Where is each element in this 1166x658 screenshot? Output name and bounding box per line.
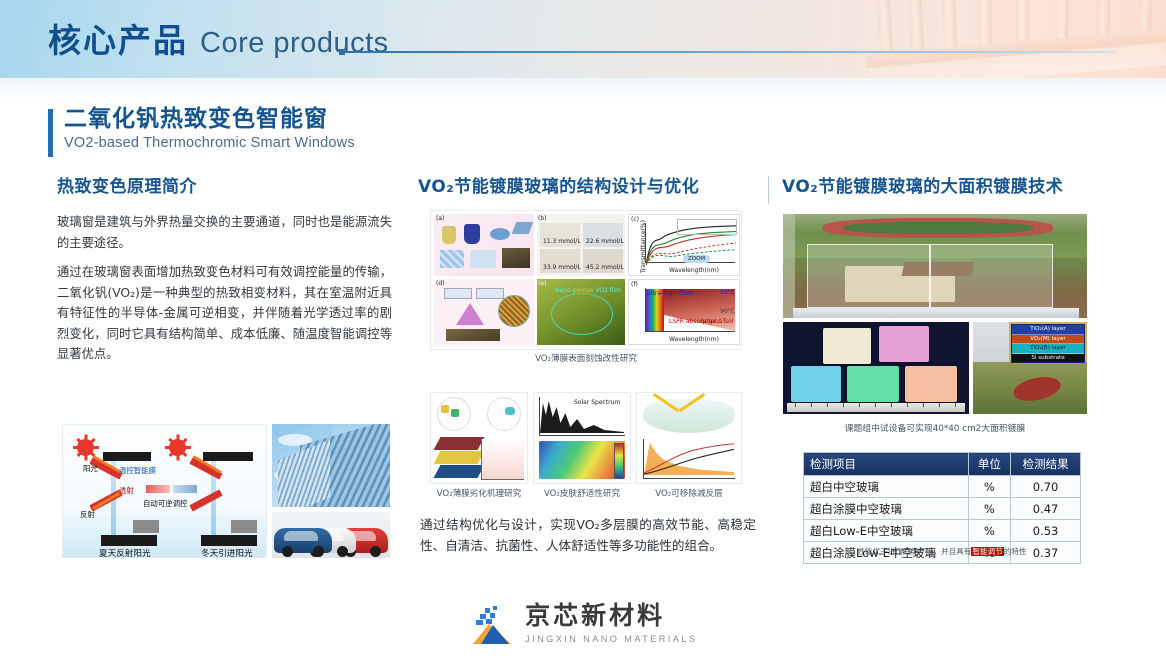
- section-title-block: 二氧化钒热致变色智能窗 VO2-based Thermochromic Smar…: [48, 106, 355, 153]
- company-logo: 京芯新材料 JINGXIN NANO MATERIALS: [469, 602, 698, 644]
- table-row: 超白涂膜中空玻璃 % 0.47: [804, 498, 1081, 520]
- sample-cream: [823, 328, 871, 364]
- left-column-heading: 热致变色原理简介: [57, 176, 392, 198]
- caption-summer: 夏天反射阳光: [99, 547, 151, 558]
- figure-caption-skin: VO₂皮肤舒适性研究: [533, 487, 631, 499]
- right-photo-caption: 课题组中试设备可实现40*40 cm2大面积镀膜: [783, 421, 1087, 434]
- photo-cars: [272, 512, 390, 558]
- classical-columns-watermark: [866, 0, 1166, 78]
- panel-label-b: (b): [538, 215, 547, 222]
- label-transmit: 透射: [119, 485, 134, 496]
- sample-peach: [905, 366, 957, 402]
- table-cell-unit: %: [968, 520, 1011, 542]
- label-sunlight-summer: 阳光: [83, 463, 98, 474]
- table-cell-unit: %: [968, 476, 1011, 498]
- table-row: 超白中空玻璃 % 0.70: [804, 476, 1081, 498]
- logo-pixel-5: [476, 620, 483, 625]
- layer-stack-legend: TiO₂(A) layer VO₂(M) layer TiO₂(B) layer…: [1011, 324, 1085, 363]
- column-middle: VO₂节能镀膜玻璃的结构设计与优化: [418, 176, 758, 198]
- panel-label-d: (d): [436, 280, 445, 287]
- reversible-arrow-right: [173, 485, 197, 493]
- car-blue: [274, 528, 332, 553]
- photo-large-area-coating: [783, 214, 1087, 318]
- panel-c-xlabel: Wavelength(nm): [669, 267, 719, 274]
- logo-pixel-6: [486, 619, 492, 624]
- window-base-summer: [101, 535, 157, 546]
- label-smart-film: 温控智能膜: [119, 465, 156, 476]
- panel-label-f: (f): [631, 281, 638, 288]
- panel-f-t20: 20°C: [720, 289, 735, 296]
- slide-root: 核心产品Core products 二氧化钒热致变色智能窗 VO2-based …: [0, 0, 1166, 658]
- car-wheel-6: [337, 546, 348, 557]
- sample-pink: [879, 326, 929, 362]
- thermochromic-window-diagram: 阳光 反射 温控智能膜 透射 自动可逆调控 夏天反射阳光 冬天引进阳光: [62, 424, 267, 558]
- photo-campus-with-layer-stack: TiO₂(A) layer VO₂(M) layer TiO₂(B) layer…: [973, 322, 1087, 414]
- figure-antireflection-layer: [636, 392, 742, 484]
- slide-footer: 京芯新材料 JINGXIN NANO MATERIALS: [0, 602, 1166, 644]
- figure-caption-degradation: VO₂薄膜劣化机理研究: [430, 487, 528, 499]
- sample-blue: [791, 366, 841, 402]
- figure-caption-ar: VO₂可移除减反层: [636, 487, 742, 499]
- photo-coated-glass-samples: [783, 322, 969, 414]
- section-title-en: VO2-based Thermochromic Smart Windows: [64, 133, 355, 153]
- figure-panel-e: (e) Nano-porous VO2 film: [537, 279, 625, 345]
- table-cell-result: 0.70: [1011, 476, 1081, 498]
- panel-f-t90: 90°C: [720, 308, 735, 315]
- glass-pane-1: [807, 244, 931, 308]
- table-row: 超白Low-E中空玻璃 % 0.53: [804, 520, 1081, 542]
- car-wheel-3: [282, 546, 293, 557]
- logo-name-en: JINGXIN NANO MATERIALS: [525, 634, 697, 644]
- table-cell-result: 0.47: [1011, 498, 1081, 520]
- panel-b-conc-3: 33.9 mmol/L: [543, 264, 581, 271]
- logo-pixel-4: [490, 613, 495, 618]
- figure-panel-a: (a): [434, 214, 534, 276]
- panel-f-ultrahigh: ultra-high Tlum: [647, 290, 693, 297]
- page-title-cn: 核心产品: [48, 21, 188, 60]
- logo-name-cn: 京芯新材料: [525, 601, 665, 630]
- panel-b-conc-4: 45.2 mmol/L: [586, 264, 624, 271]
- furniture-winter: [231, 520, 257, 533]
- car-window-2: [284, 531, 318, 541]
- figure-caption-etching: VO₂薄膜表面刻蚀改性研究: [430, 352, 742, 364]
- logo-text-block: 京芯新材料 JINGXIN NANO MATERIALS: [525, 602, 697, 647]
- page-title-en: Core products: [200, 27, 389, 59]
- window-frame-top-winter: [203, 452, 253, 461]
- column-left: 热致变色原理简介 玻璃窗是建筑与外界热量交换的主要通道，同时也是能源流失的主要途…: [57, 176, 392, 374]
- layer-vo2-m: VO₂(M) layer: [1012, 335, 1084, 345]
- window-base-winter: [201, 535, 257, 546]
- left-paragraph-2: 通过在玻璃窗表面增加热致变色材料可有效调控能量的传输，二氧化钒(VO₂)是一种典…: [57, 262, 392, 365]
- layer-tio2-b: TiO₂(B) layer: [1012, 344, 1084, 354]
- logo-mark-icon: [469, 606, 513, 644]
- table-header-row: 检测项目 单位 检测结果: [804, 453, 1081, 476]
- panel-c-zoom-badge: ZOOM: [683, 255, 710, 263]
- sample-green: [847, 366, 899, 402]
- slide-header: 核心产品Core products: [0, 0, 1166, 78]
- reversible-arrow-left: [146, 485, 170, 493]
- table-header-unit: 单位: [968, 453, 1011, 476]
- table-header-result: 检测结果: [1011, 453, 1081, 476]
- table-cell-item: 超白Low-E中空玻璃: [804, 520, 969, 542]
- panel-label-e: (e): [538, 280, 546, 287]
- figure-caption-degradation-text: VO₂薄膜劣化机理研究: [437, 489, 522, 499]
- section-title-cn: 二氧化钒热致变色智能窗: [64, 106, 355, 133]
- reflectance-curves: [644, 439, 734, 475]
- panel-c-ylabel: Transmittance(%): [640, 220, 647, 273]
- label-auto-reversible: 自动可逆调控: [143, 498, 187, 509]
- table-header-item: 检测项目: [804, 453, 969, 476]
- panel-b-conc-2: 22.6 mmol/L: [586, 238, 624, 245]
- figure-degradation: [430, 392, 528, 484]
- figure-caption-ar-text: VO₂可移除减反层: [655, 489, 723, 499]
- left-photo-stack: [272, 424, 390, 558]
- table-footnote-after: 的特性: [1004, 547, 1027, 556]
- layer-tio2-a: TiO₂(A) layer: [1012, 325, 1084, 335]
- table-cell-item: 超白中空玻璃: [804, 476, 969, 498]
- car-wheel-4: [313, 546, 324, 557]
- column-divider: [768, 176, 769, 204]
- panel-f-xlabel: Wavelength(nm): [669, 336, 719, 343]
- figure-panel-c: (c) ZOOM Wavelength(nm) Transmittance(%): [628, 214, 740, 276]
- logo-triangle-blue: [481, 625, 509, 644]
- right-column-heading: VO₂节能镀膜玻璃的大面积镀膜技术: [782, 176, 1088, 198]
- ruler: [787, 403, 965, 412]
- header-shadow: [0, 78, 1166, 100]
- panel-e-annotation: Nano-porous VO2 film: [555, 287, 621, 294]
- figure-caption-skin-text: VO₂皮肤舒适性研究: [544, 489, 620, 499]
- table-footnote-highlight: 智能调节: [971, 547, 1003, 556]
- furniture-summer: [133, 520, 159, 533]
- column-right: VO₂节能镀膜玻璃的大面积镀膜技术: [782, 176, 1088, 198]
- page-title: 核心产品Core products: [48, 14, 389, 62]
- panel-label-c: (c): [631, 216, 639, 223]
- table-footnote: 性能优于进口同类产品，并且具有智能调节的特性: [803, 546, 1081, 557]
- panel-b-conc-1: 11.3 mmol/L: [543, 238, 581, 245]
- logo-pixel-2: [493, 606, 497, 610]
- glass-pane-2: [929, 244, 1053, 308]
- table-cell-unit: %: [968, 498, 1011, 520]
- panel-label-a: (a): [436, 215, 444, 222]
- photo-glass-building: [272, 424, 390, 507]
- middle-column-note: 通过结构优化与设计，实现VO₂多层膜的高效节能、高稳定性、自清洁、抗菌性、人体舒…: [420, 514, 756, 556]
- window-frame-top-summer: [103, 452, 151, 461]
- table-cell-item: 超白涂膜中空玻璃: [804, 498, 969, 520]
- caption-winter: 冬天引进阳光: [201, 547, 253, 558]
- panel-f-dtsol: large ΔTsol: [701, 318, 733, 325]
- left-paragraph-1: 玻璃窗是建筑与外界热量交换的主要通道，同时也是能源流失的主要途径。: [57, 212, 392, 253]
- figure-panel-b: (b) 11.3 mmol/L 22.6 mmol/L 33.9 mmol/L …: [537, 214, 625, 276]
- layer-si-substrate: Si substrate: [1012, 354, 1084, 363]
- figure-skin-comfort: Solar Spectrum: [533, 392, 631, 484]
- figure-structure-design: (a) (b) 11.3 mmol/L 22.6 mmol/L 33.9 mmo…: [430, 210, 742, 350]
- figure-caption-etching-text: VO₂薄膜表面刻蚀改性研究: [535, 354, 637, 364]
- figure-panel-d: (d): [434, 279, 534, 345]
- left-column-body: 玻璃窗是建筑与外界热量交换的主要通道，同时也是能源流失的主要途径。 通过在玻璃窗…: [57, 212, 392, 365]
- middle-column-heading: VO₂节能镀膜玻璃的结构设计与优化: [418, 176, 758, 198]
- solar-spectrum-label: Solar Spectrum: [574, 399, 620, 406]
- section-accent-bar: [48, 109, 53, 157]
- table-cell-result: 0.53: [1011, 520, 1081, 542]
- table-footnote-before: 性能优于进口同类产品，并且具有: [857, 547, 971, 556]
- figure-panel-f: (f) ultra-high Tlum LSPR absorption larg…: [628, 279, 740, 345]
- label-reflect-summer: 反射: [80, 509, 95, 520]
- section-divider-rule: [345, 51, 1115, 53]
- car-wheel-2: [370, 546, 381, 557]
